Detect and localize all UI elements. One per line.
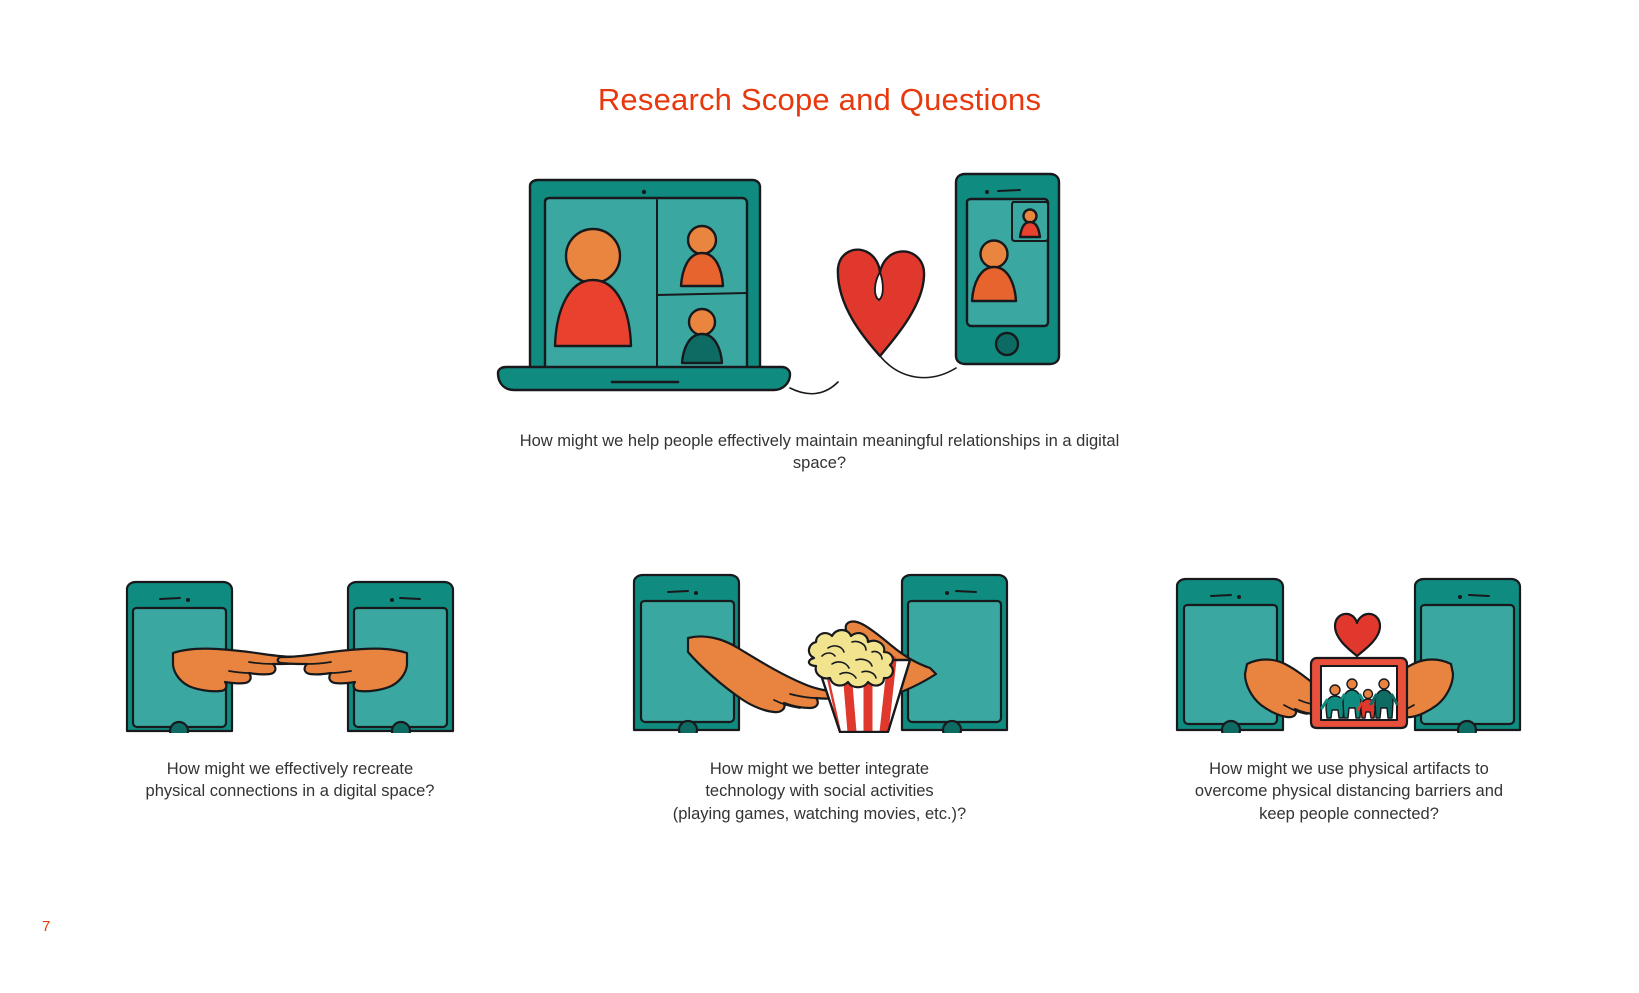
card-1-caption: How might we effectively recreate physic… [146, 758, 435, 803]
card-recreate-physical-connections: How might we effectively recreate physic… [40, 548, 540, 825]
question-cards-row: How might we effectively recreate physic… [0, 548, 1639, 825]
card-integrate-technology-social-activities: How might we better integrate technology… [570, 548, 1070, 825]
card-physical-artifacts-connection: How might we use physical artifacts to o… [1099, 548, 1599, 825]
card-2-caption: How might we better integrate technology… [673, 758, 966, 825]
page-title: Research Scope and Questions [0, 82, 1639, 118]
card-1-art [105, 548, 475, 733]
card-1-caption-line-1: How might we effectively recreate [146, 758, 435, 780]
card-3-caption-line-3: keep people connected? [1195, 803, 1503, 825]
two-phones-hands-sharing-popcorn-icon [600, 548, 1040, 733]
card-3-caption: How might we use physical artifacts to o… [1195, 758, 1503, 825]
two-phones-hands-sharing-family-photo-icon [1159, 548, 1539, 733]
card-2-caption-line-3: (playing games, watching movies, etc.)? [673, 803, 966, 825]
hero-caption: How might we help people effectively mai… [510, 430, 1130, 475]
card-2-caption-line-1: How might we better integrate [673, 758, 966, 780]
card-3-art [1159, 548, 1539, 733]
hero-illustration-region [0, 160, 1639, 400]
card-3-caption-line-2: overcome physical distancing barriers an… [1195, 780, 1503, 802]
card-3-caption-line-1: How might we use physical artifacts to [1195, 758, 1503, 780]
slide-canvas: Research Scope and Questions [0, 0, 1639, 993]
card-2-caption-line-2: technology with social activities [673, 780, 966, 802]
two-phones-hands-touching-icon [105, 553, 475, 733]
card-2-art [600, 548, 1040, 733]
card-1-caption-line-2: physical connections in a digital space? [146, 780, 435, 802]
page-number: 7 [42, 918, 50, 935]
laptop-video-call-heart-phone-icon [490, 160, 1150, 400]
hero-caption-line-1: How might we help people effectively mai… [520, 432, 943, 450]
